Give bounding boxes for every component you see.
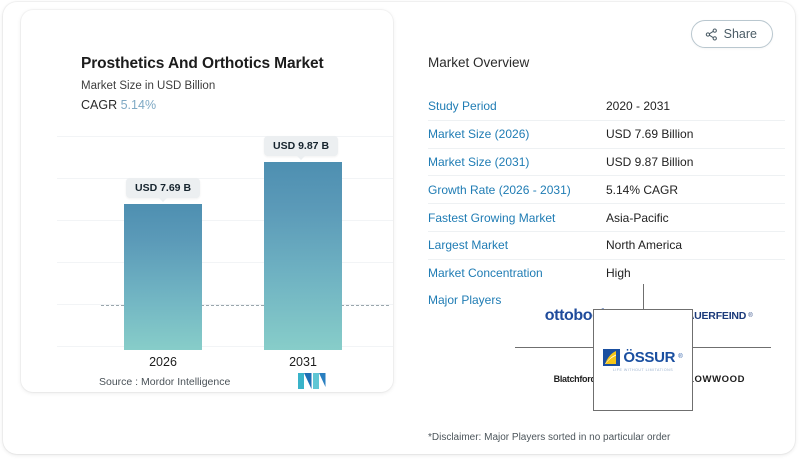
- chart-card: Prosthetics And Orthotics Market Market …: [21, 10, 393, 392]
- chart-plot-area: USD 7.69 B USD 9.87 B 2026 2031: [39, 120, 393, 350]
- x-axis-label-2031: 2031: [264, 355, 342, 369]
- ossur-mark-icon: [603, 349, 620, 366]
- major-players-grid: ottobock. BAUERFEIND ® Blatchford⋮: [515, 284, 771, 411]
- row-value: USD 9.87 Billion: [606, 155, 693, 169]
- gridline: [57, 178, 393, 179]
- table-row: Market Size (2026) USD 7.69 Billion: [428, 120, 785, 148]
- bauerfeind-registered-mark: ®: [748, 313, 752, 319]
- table-row: Study Period 2020 - 2031: [428, 93, 785, 120]
- gridline: [57, 136, 393, 137]
- gridline: [57, 262, 393, 263]
- bar-2031[interactable]: [264, 162, 342, 350]
- mordor-intelligence-logo: [298, 372, 326, 389]
- table-row: Market Concentration High: [428, 259, 785, 287]
- bar-2026[interactable]: [124, 204, 202, 350]
- cagr-label: CAGR: [81, 98, 117, 112]
- major-players-label: Major Players: [428, 293, 501, 307]
- row-value: Asia-Pacific: [606, 211, 669, 225]
- ossur-registered-mark: ®: [678, 354, 682, 360]
- bar-label-2026: USD 7.69 B: [126, 178, 200, 198]
- row-key: Market Size (2026): [428, 127, 606, 141]
- ossur-logo-row: ÖSSUR ®: [603, 349, 682, 366]
- share-nodes-icon: [705, 28, 718, 41]
- gridline: [57, 346, 393, 347]
- cagr-value: 5.14%: [121, 98, 156, 112]
- bar-label-2031: USD 9.87 B: [264, 136, 338, 156]
- overview-title: Market Overview: [428, 55, 529, 70]
- share-label: Share: [724, 27, 757, 41]
- ossur-tagline: LIFE WITHOUT LIMITATIONS: [613, 368, 673, 372]
- table-row: Growth Rate (2026 - 2031) 5.14% CAGR: [428, 175, 785, 203]
- row-key: Growth Rate (2026 - 2031): [428, 183, 606, 197]
- row-value: USD 7.69 Billion: [606, 127, 693, 141]
- market-overview-panel: Share Market Overview Study Period 2020 …: [415, 10, 785, 450]
- row-key: Fastest Growing Market: [428, 211, 606, 225]
- table-row: Market Size (2031) USD 9.87 Billion: [428, 148, 785, 176]
- row-key: Market Size (2031): [428, 155, 606, 169]
- gridline: [57, 220, 393, 221]
- x-axis-label-2026: 2026: [124, 355, 202, 369]
- row-key: Study Period: [428, 99, 606, 113]
- player-cell-ossur[interactable]: ÖSSUR ® LIFE WITHOUT LIMITATIONS: [593, 309, 693, 411]
- row-value: 5.14% CAGR: [606, 183, 678, 197]
- share-button[interactable]: Share: [691, 20, 773, 48]
- table-row: Largest Market North America: [428, 231, 785, 259]
- row-key: Largest Market: [428, 238, 606, 252]
- row-value: High: [606, 266, 631, 280]
- report-card: Prosthetics And Orthotics Market Market …: [3, 2, 795, 454]
- row-value: North America: [606, 238, 682, 252]
- chart-cagr: CAGR 5.14%: [81, 98, 156, 112]
- row-key: Market Concentration: [428, 266, 606, 280]
- chart-source: Source : Mordor Intelligence: [99, 376, 230, 388]
- chart-title: Prosthetics And Orthotics Market: [81, 55, 324, 73]
- chart-subtitle: Market Size in USD Billion: [81, 80, 215, 92]
- disclaimer-text: *Disclaimer: Major Players sorted in no …: [428, 432, 670, 443]
- ossur-logo: ÖSSUR ® LIFE WITHOUT LIMITATIONS: [603, 349, 682, 372]
- blatchford-text: Blatchford: [554, 374, 596, 384]
- ossur-text: ÖSSUR: [623, 349, 675, 366]
- row-value: 2020 - 2031: [606, 99, 670, 113]
- table-row: Fastest Growing Market Asia-Pacific: [428, 203, 785, 231]
- overview-table: Study Period 2020 - 2031 Market Size (20…: [428, 93, 785, 287]
